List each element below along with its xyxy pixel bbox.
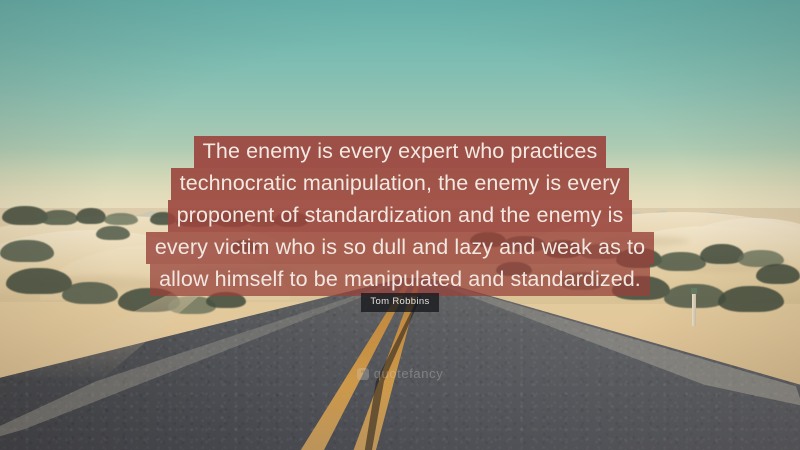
watermark: “ quotefancy	[0, 363, 800, 381]
watermark-inner: “ quotefancy	[357, 367, 444, 381]
quote-line: technocratic manipulation, the enemy is …	[0, 168, 800, 200]
quote-poster: The enemy is every expert who practices …	[0, 0, 800, 450]
watermark-text: quotefancy	[374, 367, 444, 381]
quote-text-block: The enemy is every expert who practices …	[0, 136, 800, 296]
quote-line: The enemy is every expert who practices	[0, 136, 800, 168]
quote-line-text: The enemy is every expert who practices	[194, 136, 607, 168]
quote-line-text: every victim who is so dull and lazy and…	[146, 232, 654, 264]
quote-line: proponent of standardization and the ene…	[0, 200, 800, 232]
quote-line-text: technocratic manipulation, the enemy is …	[171, 168, 630, 200]
quote-mark-icon: “	[357, 368, 369, 380]
author-attribution: Tom Robbins	[0, 291, 800, 312]
author-name: Tom Robbins	[361, 293, 438, 312]
quote-line-text: proponent of standardization and the ene…	[168, 200, 633, 232]
quote-line: every victim who is so dull and lazy and…	[0, 232, 800, 264]
